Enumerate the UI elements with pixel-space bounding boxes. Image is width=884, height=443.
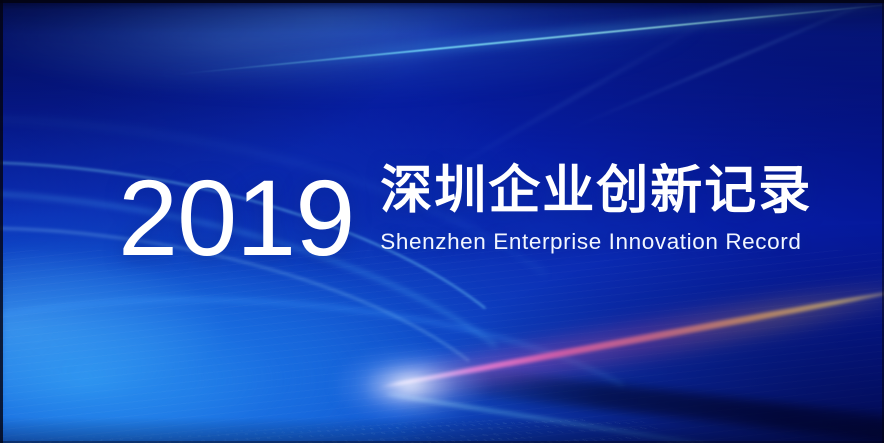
- image-border-frame: [0, 0, 884, 443]
- banner-image: 1 0 0 1 1 0 1 0 0 1 1 0 1 1 0 0 1 0 1 1 …: [0, 0, 884, 443]
